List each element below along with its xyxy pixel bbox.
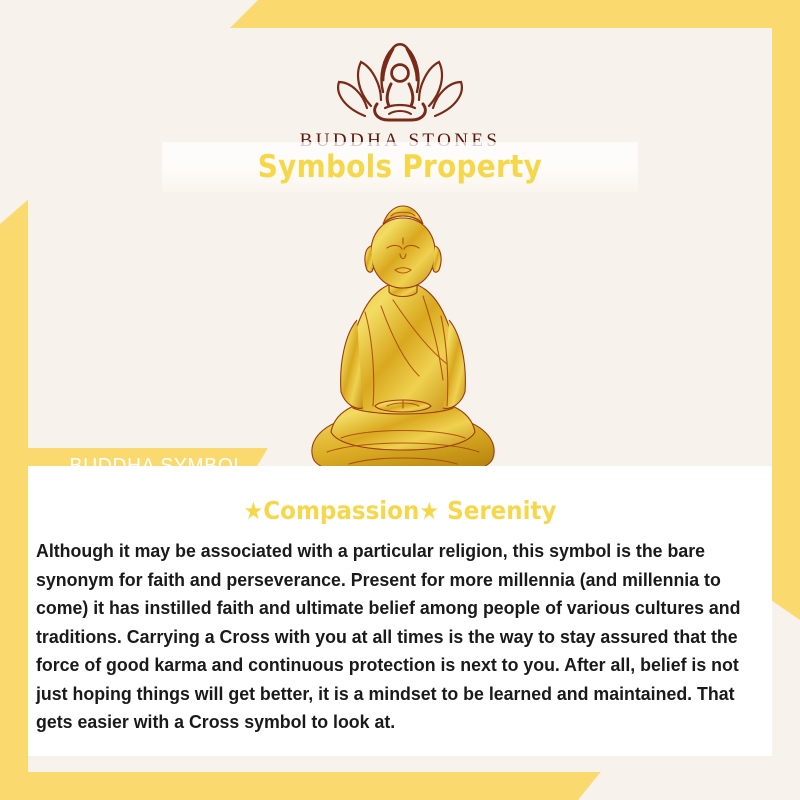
decorative-band-bottom <box>0 768 604 800</box>
lotus-meditation-figure-icon <box>325 34 475 126</box>
star-icon-right: ★ <box>419 497 439 525</box>
decorative-band-top <box>228 0 800 30</box>
content-paragraph: Although it may be associated with a par… <box>36 537 762 737</box>
buddha-statue-image <box>283 200 523 490</box>
content-subtitle: ★Compassion★ Serenity <box>58 496 742 525</box>
subtitle-word-serenity: Serenity <box>439 496 556 525</box>
title-banner: Symbols Property <box>162 142 638 192</box>
subtitle-word-compassion: Compassion <box>263 496 419 525</box>
decorative-band-right <box>768 0 800 620</box>
seated-buddha-statue-icon <box>283 200 523 490</box>
decorative-band-left <box>0 198 30 800</box>
content-panel: ★Compassion★ Serenity Although it may be… <box>28 466 772 756</box>
page-title: Symbols Property <box>258 149 542 185</box>
star-icon-left: ★ <box>243 497 263 525</box>
brand-logo: BUDDHA STONES <box>28 28 772 152</box>
poster-root: BUDDHA STONES Symbols Property <box>0 0 800 800</box>
